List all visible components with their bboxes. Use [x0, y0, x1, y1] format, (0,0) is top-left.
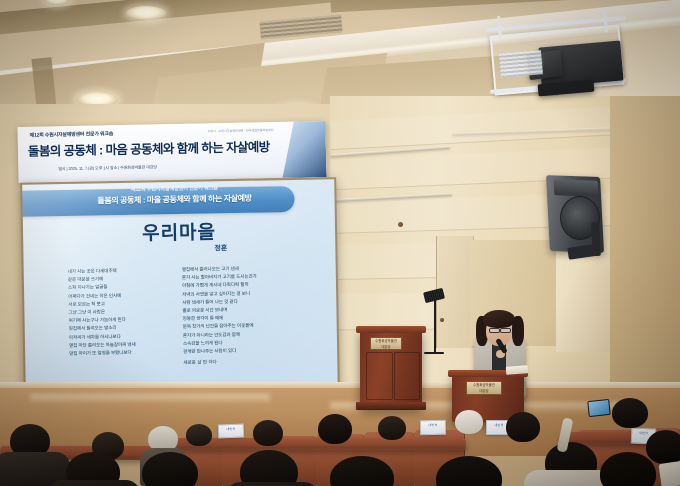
mic-stand-pole: [434, 296, 436, 354]
audience-shoulders: [48, 480, 140, 486]
pa-speaker-horn: [554, 179, 599, 197]
mic-stand-foot: [424, 352, 444, 354]
lecture-hall-photo: 제12회 수원시자살예방센터 전문가 워크숍 수원시 · 수원시자살예방센터 ·…: [0, 0, 680, 486]
banner-title: 돌봄의 공동체 : 마음 공동체와 함께 하는 자살예방: [28, 136, 270, 160]
projection-screen: 제12회 수원시자살예방센터 전문가 워크숍 돌봄의 공동체 : 마을 공동체와…: [20, 177, 340, 394]
wall-panel: [556, 252, 610, 352]
banner-meta: 일시 | 2025. 11. 7.(금) 오후 1시 장소 | 수원화성박물관 …: [58, 164, 157, 172]
audience-head: [318, 414, 352, 444]
presentation-slide: 제12회 수원시자살예방센터 전문가 워크숍 돌봄의 공동체 : 마을 공동체와…: [22, 179, 338, 392]
downlight-icon: [126, 6, 166, 20]
audience-head: [506, 412, 540, 442]
lectern-center-plaque-line2: 대강당: [467, 388, 501, 394]
downlight-icon: [44, 0, 70, 5]
audience-head: [646, 430, 680, 464]
name-card-text: 내빈석: [421, 421, 445, 428]
floor-reflection: [30, 394, 270, 404]
name-card-text: 내빈석: [219, 425, 243, 433]
audience-head: [612, 398, 648, 428]
audience-head: [186, 424, 212, 446]
lectern-left-plaque: 수원화성박물관 대강당: [370, 337, 402, 350]
poem-column-right: 옆집에서 흘러나오는 고기 냄새혼자 사는 할아버지가 고기를 드시는건가아침에…: [182, 265, 258, 357]
presenter-hair: [483, 310, 515, 328]
audience-head: [240, 450, 298, 486]
name-card: 내빈석: [218, 424, 244, 439]
wall-fitting-icon: [398, 222, 403, 227]
seat-row-back[interactable]: [176, 438, 466, 450]
lectern-left-base: [356, 402, 426, 410]
ceiling-vent: [499, 50, 543, 78]
door-knob-icon[interactable]: [440, 318, 444, 322]
banner-logos: 수원시 · 수원시자살예방센터 · 한국생명존중희망재단: [208, 128, 274, 133]
slide-author: 정훈: [214, 243, 227, 253]
audience-shoulders: [226, 482, 318, 486]
pa-speaker-bracket: [591, 222, 601, 256]
lectern-center-plaque: 수원화성박물관 대강당: [466, 381, 502, 395]
poem-line: 문득 창가의 난간을 잡아주는 이웃들에: [183, 322, 258, 332]
banner-subtitle: 제12회 수원시자살예방센터 전문가 워크숍: [30, 130, 114, 139]
audience-head-gray-hair: [455, 410, 483, 434]
poem-column-left: 내가 사는 곳은 다세대주택같은 대문을 쓰기에스쳐 지나가는 얼굴들어쩌다가 …: [68, 267, 136, 358]
poem-line: 관계란 만나주는 사람이 있다: [183, 347, 258, 357]
lectern-papers: [506, 365, 529, 375]
audience-notebook: [658, 460, 680, 486]
audience-smartphone[interactable]: [587, 399, 611, 417]
event-banner: 제12회 수원시자살예방센터 전문가 워크숍 수원시 · 수원시자살예방센터 ·…: [17, 121, 326, 183]
slide-title: 우리마을: [23, 215, 335, 247]
wall-corner: [610, 96, 680, 396]
audience-head: [253, 420, 283, 446]
audience-head: [378, 416, 406, 440]
audience-head: [142, 452, 198, 486]
poem-line: 앞집 아이가 또 말썽을 부렸나보다: [69, 349, 136, 358]
lectern-left-plaque-line2: 대강당: [371, 344, 401, 350]
name-card: 내빈석: [420, 420, 446, 435]
smartphone-screen: [588, 400, 609, 416]
presenter-glasses-icon: [500, 328, 511, 333]
lectern-left-top: [356, 326, 426, 333]
poem-last-line: 새로운 살 만 하다: [183, 359, 217, 366]
banner-decoration: [281, 121, 326, 178]
presenter-glasses-icon: [489, 328, 500, 333]
lectern-left-panel: [366, 352, 393, 400]
lectern-left-plaque-line1: 수원화성박물관: [371, 338, 401, 344]
lectern-left-panel: [394, 352, 420, 400]
